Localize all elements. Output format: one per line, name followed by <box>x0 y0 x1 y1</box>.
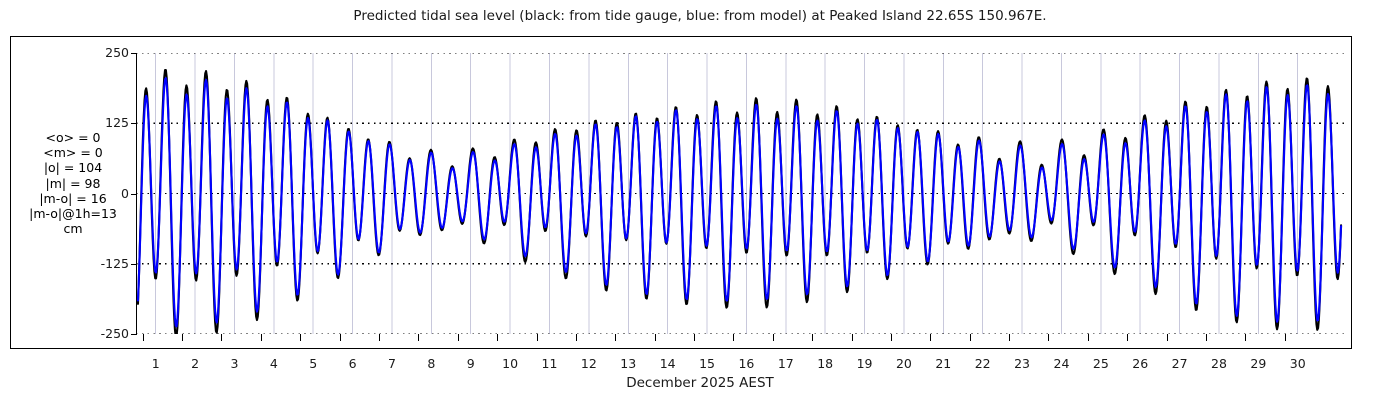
x-tick-mark <box>576 334 577 341</box>
x-tick-mark <box>418 334 419 341</box>
x-tick-label: 22 <box>970 356 996 371</box>
x-tick-label: 17 <box>773 356 799 371</box>
y-tick-mark <box>131 334 136 335</box>
y-tick-label: 0 <box>89 186 129 201</box>
x-tick-label: 18 <box>812 356 838 371</box>
x-tick-label: 12 <box>576 356 602 371</box>
x-tick-mark <box>891 334 892 341</box>
y-tick-mark <box>131 53 136 54</box>
y-tick-mark <box>131 123 136 124</box>
x-tick-mark <box>1285 334 1286 341</box>
tide-series-svg <box>136 53 1345 334</box>
x-tick-mark <box>497 334 498 341</box>
x-tick-mark <box>182 334 183 341</box>
x-tick-label: 28 <box>1206 356 1232 371</box>
x-tick-mark <box>1167 334 1168 341</box>
x-tick-label: 4 <box>261 356 287 371</box>
statistics-panel: <o> = 0 <m> = 0 |o| = 104 |m| = 98 |m-o|… <box>10 130 136 236</box>
y-tick-mark <box>131 194 136 195</box>
x-tick-label: 15 <box>694 356 720 371</box>
x-tick-label: 25 <box>1088 356 1114 371</box>
x-tick-mark <box>1048 334 1049 341</box>
stat-abs-diff-1h: |m-o|@1h=13 <box>10 206 136 221</box>
x-tick-mark <box>615 334 616 341</box>
x-tick-mark <box>852 334 853 341</box>
x-tick-label: 14 <box>655 356 681 371</box>
x-tick-mark <box>143 334 144 341</box>
x-tick-label: 7 <box>379 356 405 371</box>
x-tick-mark <box>1009 334 1010 341</box>
horizontal-gridlines <box>136 53 1345 334</box>
x-tick-label: 11 <box>537 356 563 371</box>
x-tick-label: 6 <box>340 356 366 371</box>
tidal-chart-figure: Predicted tidal sea level (black: from t… <box>0 0 1400 400</box>
x-tick-label: 29 <box>1245 356 1271 371</box>
x-tick-label: 13 <box>615 356 641 371</box>
x-tick-label: 21 <box>930 356 956 371</box>
y-tick-label: -125 <box>89 256 129 271</box>
x-tick-label: 9 <box>458 356 484 371</box>
x-tick-mark <box>1245 334 1246 341</box>
x-tick-mark <box>655 334 656 341</box>
x-tick-label: 10 <box>497 356 523 371</box>
stat-units: cm <box>10 221 136 236</box>
x-tick-mark <box>458 334 459 341</box>
x-tick-mark <box>261 334 262 341</box>
x-tick-label: 3 <box>221 356 247 371</box>
x-tick-label: 16 <box>733 356 759 371</box>
x-tick-mark <box>1127 334 1128 341</box>
stat-mean-model: <m> = 0 <box>10 145 136 160</box>
plot-area <box>136 53 1345 334</box>
x-tick-label: 26 <box>1127 356 1153 371</box>
y-tick-mark <box>131 264 136 265</box>
x-tick-label: 5 <box>300 356 326 371</box>
y-tick-label: 125 <box>89 115 129 130</box>
x-tick-mark <box>812 334 813 341</box>
x-tick-mark <box>970 334 971 341</box>
x-tick-label: 27 <box>1167 356 1193 371</box>
y-tick-label: -250 <box>89 326 129 341</box>
y-tick-label: 250 <box>89 45 129 60</box>
stat-mean-obs: <o> = 0 <box>10 130 136 145</box>
x-tick-mark <box>300 334 301 341</box>
x-tick-mark <box>537 334 538 341</box>
x-tick-label: 24 <box>1048 356 1074 371</box>
x-tick-mark <box>694 334 695 341</box>
x-tick-label: 8 <box>418 356 444 371</box>
page-title: Predicted tidal sea level (black: from t… <box>0 8 1400 24</box>
x-tick-label: 1 <box>143 356 169 371</box>
x-tick-mark <box>1206 334 1207 341</box>
x-tick-mark <box>773 334 774 341</box>
x-tick-label: 20 <box>891 356 917 371</box>
x-tick-mark <box>221 334 222 341</box>
series-line-model <box>138 78 1341 326</box>
vertical-gridlines <box>156 53 1298 334</box>
x-tick-mark <box>930 334 931 341</box>
x-tick-label: 2 <box>182 356 208 371</box>
x-tick-mark <box>1088 334 1089 341</box>
x-tick-mark <box>340 334 341 341</box>
x-tick-label: 30 <box>1285 356 1311 371</box>
x-tick-label: 19 <box>852 356 878 371</box>
stat-abs-obs: |o| = 104 <box>10 160 136 175</box>
x-tick-mark <box>379 334 380 341</box>
x-axis-title: December 2025 AEST <box>0 375 1400 391</box>
x-tick-mark <box>733 334 734 341</box>
x-tick-label: 23 <box>1009 356 1035 371</box>
